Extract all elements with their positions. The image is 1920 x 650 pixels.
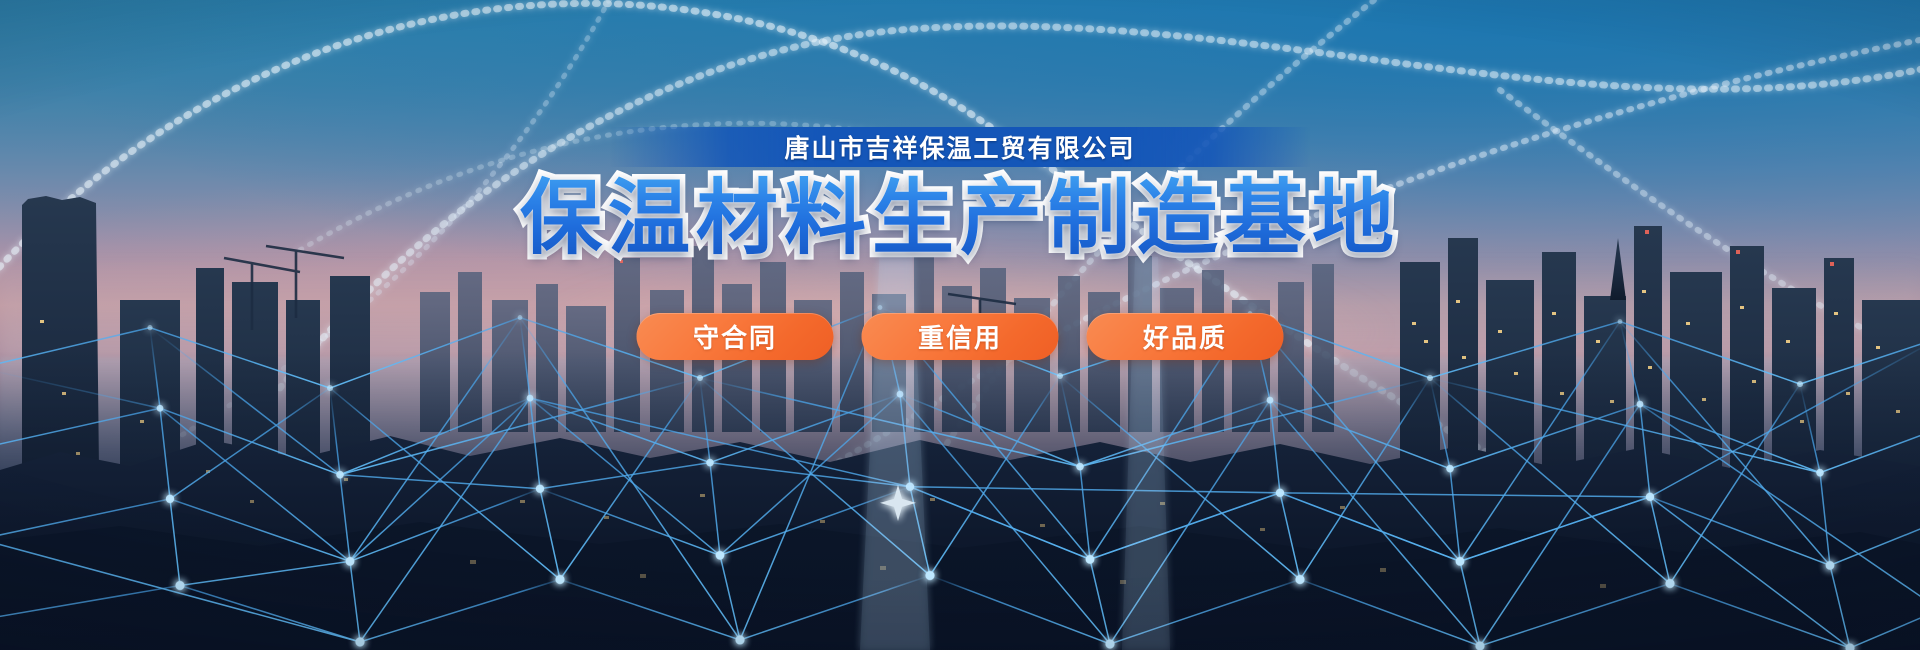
badge-hao-pin-zhi[interactable]: 好品质	[1087, 313, 1284, 360]
hero-banner: 唐山市吉祥保温工贸有限公司 保温材料生产制造基地 保温材料生产制造基地 守合同 …	[0, 0, 1920, 650]
badge-label: 守合同	[693, 318, 777, 355]
badge-zhong-xin-yong[interactable]: 重信用	[862, 313, 1059, 360]
badge-label: 好品质	[1143, 318, 1227, 355]
badge-label: 重信用	[918, 318, 1002, 355]
badge-shou-he-tong[interactable]: 守合同	[637, 313, 834, 360]
company-name-bar: 唐山市吉祥保温工贸有限公司	[610, 127, 1310, 167]
badge-list: 守合同 重信用 好品质	[637, 313, 1284, 360]
headline-fill-layer: 保温材料生产制造基地	[520, 173, 1400, 264]
company-name: 唐山市吉祥保温工贸有限公司	[784, 129, 1135, 165]
banner-content: 唐山市吉祥保温工贸有限公司 保温材料生产制造基地 保温材料生产制造基地 守合同 …	[0, 0, 1920, 650]
headline-wrapper: 保温材料生产制造基地 保温材料生产制造基地	[520, 176, 1400, 263]
headline: 保温材料生产制造基地 保温材料生产制造基地	[520, 176, 1400, 263]
